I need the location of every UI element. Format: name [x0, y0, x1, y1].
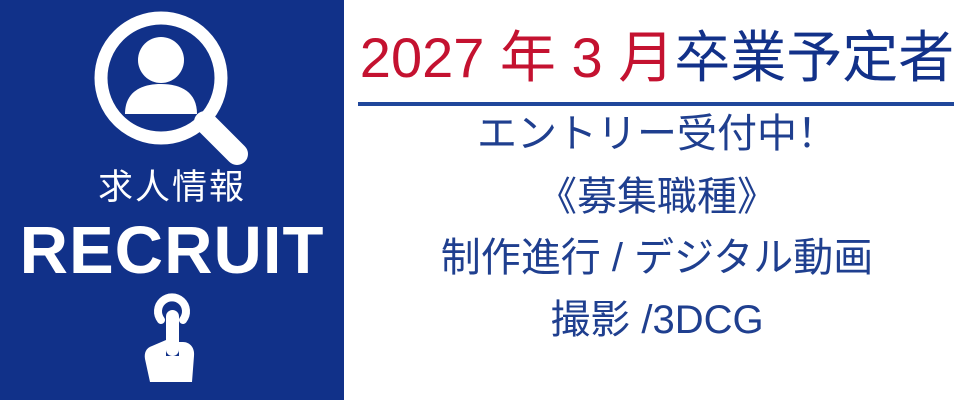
headline-divider-rule: [358, 102, 954, 106]
recruit-banner: 求人情報 RECRUIT 2027 年 3 月卒業予定者 エントリー受付中！ 《…: [0, 0, 970, 400]
job-list-line-2: 撮影 /3DCG: [358, 298, 956, 342]
search-person-icon: [89, 8, 255, 168]
right-text-panel: 2027 年 3 月卒業予定者 エントリー受付中！ 《募集職種》 制作進行 / …: [344, 0, 970, 400]
panel-jp-label: 求人情報: [98, 170, 246, 205]
entry-status-line: エントリー受付中！: [358, 112, 956, 156]
headline-date-part: 2027 年 3 月: [360, 26, 674, 89]
headline: 2027 年 3 月卒業予定者: [358, 26, 956, 90]
tap-hand-icon: [136, 290, 208, 386]
job-section-heading: 《募集職種》: [358, 175, 956, 219]
panel-recruit-word: RECRUIT: [20, 217, 325, 284]
headline-grad-part: 卒業予定者: [674, 26, 954, 89]
left-navy-panel: 求人情報 RECRUIT: [0, 0, 344, 400]
job-list-line-1: 制作進行 / デジタル動画: [358, 236, 956, 280]
